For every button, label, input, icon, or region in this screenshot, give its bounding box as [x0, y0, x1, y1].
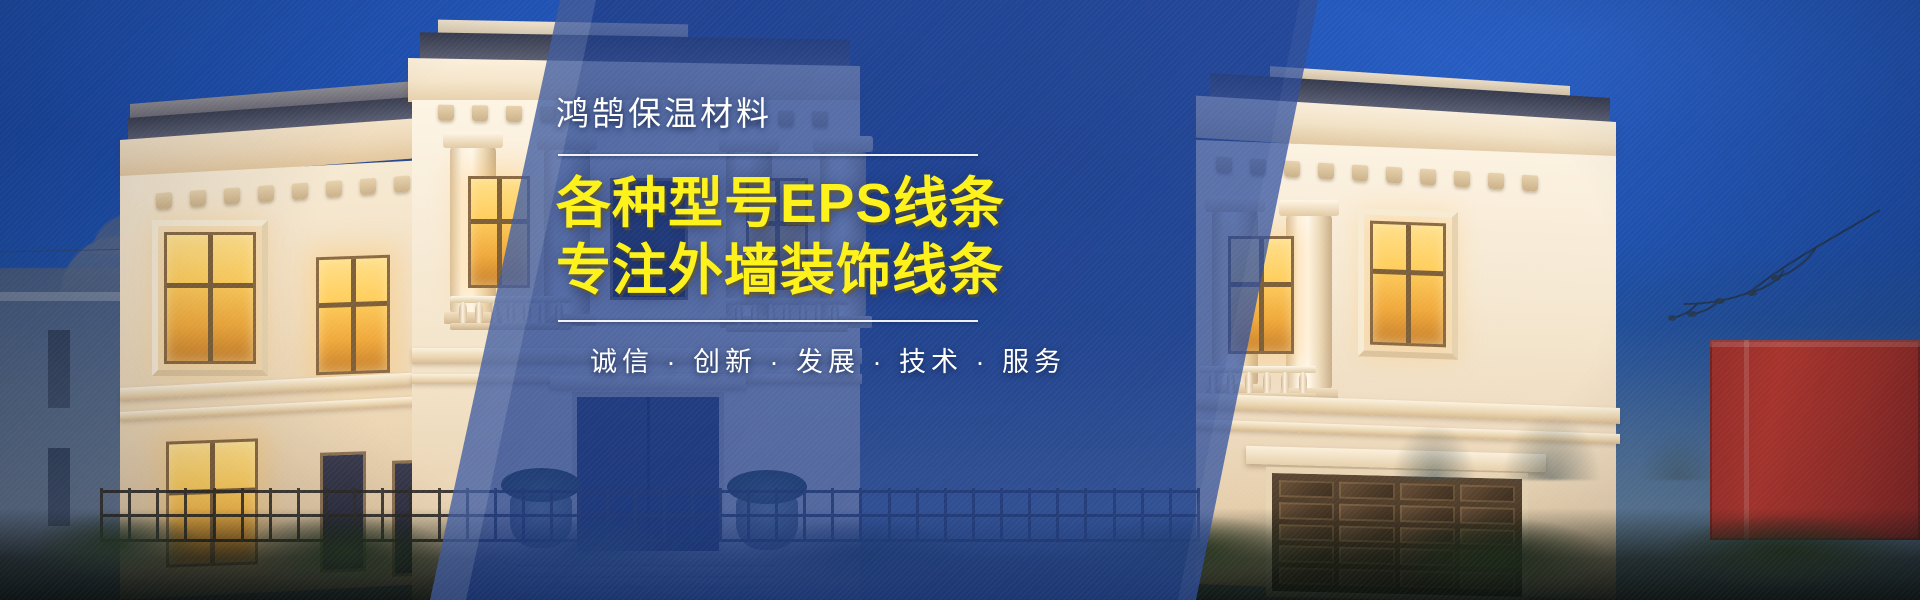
window-frame — [152, 220, 268, 376]
banner-copy-block: 鸿鹄保温材料 各种型号EPS线条 专注外墙装饰线条 诚信 · 创新 · 发展 ·… — [556, 96, 1076, 379]
headline-line-2: 专注外墙装饰线条 — [556, 237, 1076, 304]
tagline: 诚信 · 创新 · 发展 · 技术 · 服务 — [556, 340, 1076, 379]
window-glowing — [316, 255, 390, 376]
tree-branch-icon — [1580, 200, 1880, 380]
headline-line-1: 各种型号EPS线条 — [556, 170, 1076, 237]
background-window — [48, 330, 70, 408]
hero-banner: 鸿鹄保温材料 各种型号EPS线条 专注外墙装饰线条 诚信 · 创新 · 发展 ·… — [0, 0, 1920, 600]
divider-top — [558, 154, 978, 156]
headline: 各种型号EPS线条 专注外墙装饰线条 — [556, 170, 1076, 304]
brand-name: 鸿鹄保温材料 — [556, 96, 1076, 132]
divider-bottom — [558, 320, 978, 322]
